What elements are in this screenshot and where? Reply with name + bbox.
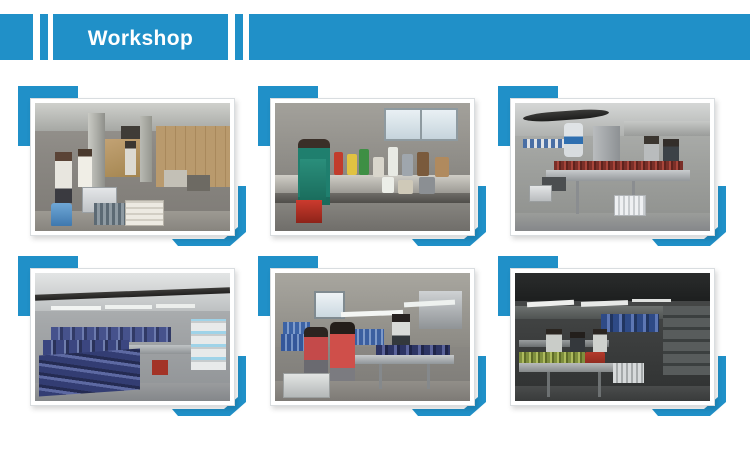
photo2-bottle-6 (402, 154, 414, 176)
header-segment-right-block (249, 14, 750, 60)
header-segment-left-bar (40, 14, 48, 60)
photo-image-3 (515, 103, 710, 231)
photo2-bottle-4 (373, 157, 385, 177)
photo2-bottle-2 (347, 154, 357, 174)
workshop-page: Workshop (0, 0, 750, 467)
photo-frame-2 (270, 98, 475, 236)
workshop-photo-grid (0, 80, 750, 460)
photo-image-2 (275, 103, 470, 231)
photo1-box-far (164, 170, 187, 188)
photo2-window (384, 108, 458, 141)
photo3-line-table (546, 170, 690, 182)
photo-image-4 (35, 273, 230, 401)
photo6-shelving-rack (663, 306, 710, 375)
photo2-bottle-5 (388, 147, 398, 176)
photo1-worker-c (125, 141, 137, 174)
photo2-worker-apron (300, 159, 325, 203)
photo2-bottle-10 (398, 180, 414, 194)
photo1-blue-stool (51, 203, 72, 226)
photo4-light-3 (156, 304, 195, 308)
photo4-light-1 (51, 306, 102, 310)
photo-image-5 (275, 273, 470, 401)
photo-card-1[interactable] (18, 86, 246, 246)
page-header-banner: Workshop (0, 14, 750, 60)
photo3-tank (564, 123, 584, 156)
photo4-light-2 (105, 305, 152, 309)
photo5-extractor-hood (419, 291, 462, 329)
photo-frame-1 (30, 98, 235, 236)
photo3-white-basket (614, 195, 645, 215)
photo6-ceiling (515, 273, 710, 301)
photo2-bottle-11 (419, 177, 435, 194)
photo1-crate-3 (125, 200, 164, 226)
page-title: Workshop (53, 28, 228, 49)
photo5-work-table (353, 355, 454, 364)
photo4-red-cart (152, 360, 168, 375)
photo-frame-3 (510, 98, 715, 236)
photo5-worker-2 (330, 322, 355, 381)
photo6-light-3 (632, 299, 671, 303)
photo5-white-bin (283, 373, 330, 399)
photo-frame-5 (270, 268, 475, 406)
photo1-pillar-right (140, 116, 152, 183)
photo6-table-legs (523, 372, 632, 398)
photo5-worker-1 (304, 327, 327, 373)
photo4-box-stack-front (39, 349, 140, 397)
photo-card-3[interactable] (498, 86, 726, 246)
photo2-red-stool (296, 200, 321, 223)
photo3-back-shelf (624, 121, 710, 136)
photo2-bottle-7 (417, 152, 429, 176)
photo2-bottle-8 (435, 157, 449, 177)
photo2-bottle-1 (334, 152, 344, 175)
photo-card-5[interactable] (258, 256, 486, 416)
photo3-floor (515, 213, 710, 231)
photo6-blue-bins (601, 314, 660, 332)
photo1-crate-2 (94, 203, 127, 225)
photo6-worker-3 (593, 329, 607, 352)
photo3-machine (593, 126, 620, 164)
photo-image-1 (35, 103, 230, 231)
header-segment-left-block (0, 14, 33, 60)
photo1-worker-a (55, 152, 73, 203)
photo2-bottle-3 (359, 149, 369, 175)
photo1-box-far-2 (187, 175, 210, 192)
photo6-worker-1 (546, 329, 562, 352)
photo1-worker-b (78, 149, 92, 187)
photo4-shelf-boxes (191, 319, 226, 370)
photo-card-4[interactable] (18, 256, 246, 416)
photo-card-2[interactable] (258, 86, 486, 246)
photo6-front-table (519, 363, 617, 372)
photo-frame-6 (510, 268, 715, 406)
photo-card-6[interactable] (498, 256, 726, 416)
photo5-blue-crate-3 (353, 329, 384, 344)
photo-frame-4 (30, 268, 235, 406)
photo2-bottle-9 (382, 177, 394, 192)
header-segment-right-bar (235, 14, 243, 60)
photo5-table-legs (357, 364, 451, 390)
photo3-grey-crate (529, 185, 552, 202)
photo-image-6 (515, 273, 710, 401)
